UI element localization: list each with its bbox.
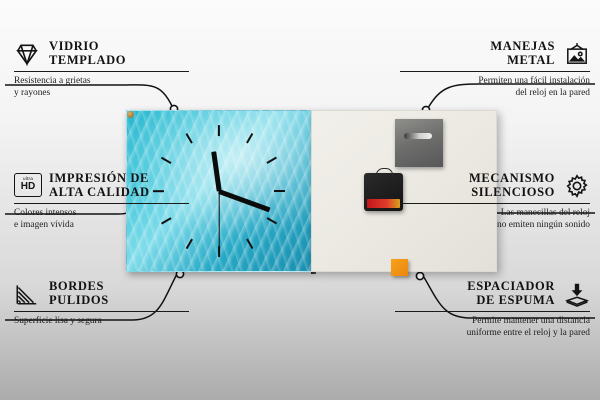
silent-mechanism: [364, 173, 403, 211]
gear-icon: [564, 173, 590, 199]
diamond-icon: [14, 41, 40, 67]
mechanism-hanger-loop: [376, 168, 393, 177]
feature-title: BORDES PULIDOS: [49, 280, 109, 307]
feature-title: VIDRIO TEMPLADO: [49, 40, 126, 67]
clock-tick: [185, 238, 192, 249]
foam-spacer-icon: [564, 281, 590, 307]
feature-manejas-metal: MANEJAS METAL Permiten una fácil instala…: [400, 40, 590, 99]
clock-tick: [246, 133, 253, 144]
feature-desc: Permiten una fácil instalación del reloj…: [400, 76, 590, 99]
battery: [367, 199, 400, 208]
feature-bordes-pulidos: BORDES PULIDOS Superficie lisa y segura: [14, 280, 189, 328]
feature-rule: [400, 71, 590, 72]
metal-hanger-plate: [395, 119, 443, 167]
clock-tick: [246, 238, 253, 249]
clock-tick: [266, 157, 277, 164]
clock-tick: [161, 157, 172, 164]
clock-tick: [266, 218, 277, 225]
feature-title: ESPACIADOR DE ESPUMA: [467, 280, 555, 307]
clock-minute-hand: [218, 189, 270, 212]
feature-desc: Colores intensos e imagen vívida: [14, 208, 189, 231]
feature-title: IMPRESIÓN DE ALTA CALIDAD: [49, 172, 150, 199]
clock-tick: [274, 190, 285, 192]
picture-frame-hanging-icon: [564, 41, 590, 67]
feature-rule: [14, 203, 189, 204]
ultra-hd-icon: ultra HD: [14, 173, 40, 199]
clock-hour-hand: [211, 151, 221, 191]
clock-tick: [218, 125, 220, 136]
feature-espaciador-espuma: ESPACIADOR DE ESPUMA Permite mantener un…: [395, 280, 590, 339]
clock-second-hand: [218, 191, 219, 253]
feature-rule: [400, 203, 590, 204]
feature-title: MECANISMO SILENCIOSO: [469, 172, 555, 199]
feature-impresion-hd: ultra HD IMPRESIÓN DE ALTA CALIDAD Color…: [14, 172, 189, 231]
callout-marker: [416, 272, 423, 279]
feature-desc: Las manecillas del reloj no emiten ningú…: [400, 208, 590, 231]
feature-desc: Superficie lisa y segura: [14, 316, 189, 327]
foam-spacer-pad: [391, 259, 408, 276]
feature-desc: Permite mantener una distancia uniforme …: [395, 316, 590, 339]
feature-rule: [14, 311, 189, 312]
clock-tick: [185, 133, 192, 144]
feature-title: MANEJAS METAL: [490, 40, 555, 67]
feature-vidrio-templado: VIDRIO TEMPLADO Resistencia a grietas y …: [14, 40, 189, 99]
feature-rule: [395, 311, 590, 312]
clock-center-cap: [127, 111, 134, 118]
ultra-hd-main-label: HD: [21, 182, 35, 192]
infographic-stage: VIDRIO TEMPLADO Resistencia a grietas y …: [0, 0, 600, 400]
hanger-keyhole-slot: [404, 133, 432, 139]
feature-mecanismo-silencioso: MECANISMO SILENCIOSO Las manecillas del …: [400, 172, 590, 231]
feature-desc: Resistencia a grietas y rayones: [14, 76, 189, 99]
feature-rule: [14, 71, 189, 72]
polished-edges-icon: [14, 281, 40, 307]
